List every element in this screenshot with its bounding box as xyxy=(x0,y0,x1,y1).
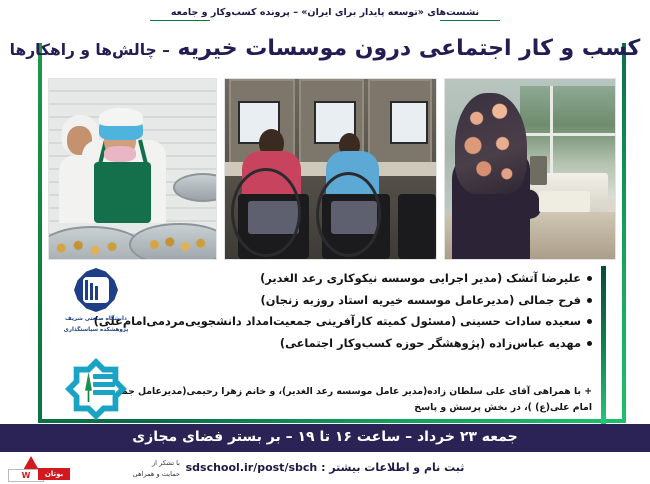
school-star-icon xyxy=(65,358,127,420)
thanks-line2: حمایت و همراهی xyxy=(70,469,180,480)
list-item: مهدیه عباس‌زاده (پژوهشگر حوزه کسب‌وکار ا… xyxy=(87,333,592,355)
photo-strip xyxy=(48,78,616,260)
sharif-university-logo: دانشگاه صنعتی شریف پژوهشکده سیاستگذاری xyxy=(40,268,152,348)
speaker-name: علیرضا آتشک (مدیر اجرایی موسسه نیکوکاری … xyxy=(260,268,581,290)
title-subtitle: – چالش‌ها و راهکارها xyxy=(10,41,170,59)
sustainable-development-school-logo xyxy=(46,358,146,420)
photo-sewing-workshop xyxy=(444,78,616,260)
kicker-text: نشست‌های «توسعه پایدار برای ایران» – پرو… xyxy=(0,7,650,18)
bullet-icon xyxy=(587,298,592,303)
speaker-name: سعیده سادات حسینی (مسئول کمیته کارآفرینی… xyxy=(94,311,581,333)
butan-logo: W بوتان xyxy=(8,456,70,480)
sharif-emblem-icon xyxy=(74,268,118,312)
speaker-name: مهدیه عباس‌زاده (پژوهشگر حوزه کسب‌وکار ا… xyxy=(280,333,581,355)
sharif-logo-line1: دانشگاه صنعتی شریف xyxy=(40,315,152,323)
speaker-list: علیرضا آتشک (مدیر اجرایی موسسه نیکوکاری … xyxy=(87,268,592,355)
bullet-icon xyxy=(587,341,592,346)
butan-wordmark: بوتان xyxy=(38,468,70,480)
event-datetime: جمعه ۲۳ خرداد – ساعت ۱۶ تا ۱۹ – بر بستر … xyxy=(0,429,650,445)
speakers-accent-bar xyxy=(601,266,606,426)
registration-url[interactable]: sdschool.ir/post/sbch xyxy=(186,461,318,474)
sharif-logo-line2: پژوهشکده سیاستگذاری xyxy=(40,326,152,334)
photo-community-kitchen xyxy=(48,78,217,260)
registration-label: ثبت نام و اطلاعات بیشتر : xyxy=(321,461,464,474)
photo-wheelchair-computer-lab xyxy=(224,78,437,260)
title-main: کسب و کار اجتماعی درون موسسات خیریه xyxy=(178,36,641,61)
panel-note: + با همراهی آقای علی سلطان زاده(مدیر عام… xyxy=(100,384,592,417)
sponsor-thanks: با تشکر از حمایت و همراهی xyxy=(70,458,180,479)
bullet-icon xyxy=(587,319,592,324)
list-item: سعیده سادات حسینی (مسئول کمیته کارآفرینی… xyxy=(87,311,592,333)
bullet-icon xyxy=(587,276,592,281)
list-item: فرح جمالی (مدیرعامل موسسه خیریه استاد رو… xyxy=(87,290,592,312)
list-item: علیرضا آتشک (مدیر اجرایی موسسه نیکوکاری … xyxy=(87,268,592,290)
thanks-line1: با تشکر از xyxy=(70,458,180,469)
page-title: کسب و کار اجتماعی درون موسسات خیریه – چا… xyxy=(0,36,650,61)
poster-root: نشست‌های «توسعه پایدار برای ایران» – پرو… xyxy=(0,0,650,484)
speaker-name: فرح جمالی (مدیرعامل موسسه خیریه استاد رو… xyxy=(261,290,581,312)
